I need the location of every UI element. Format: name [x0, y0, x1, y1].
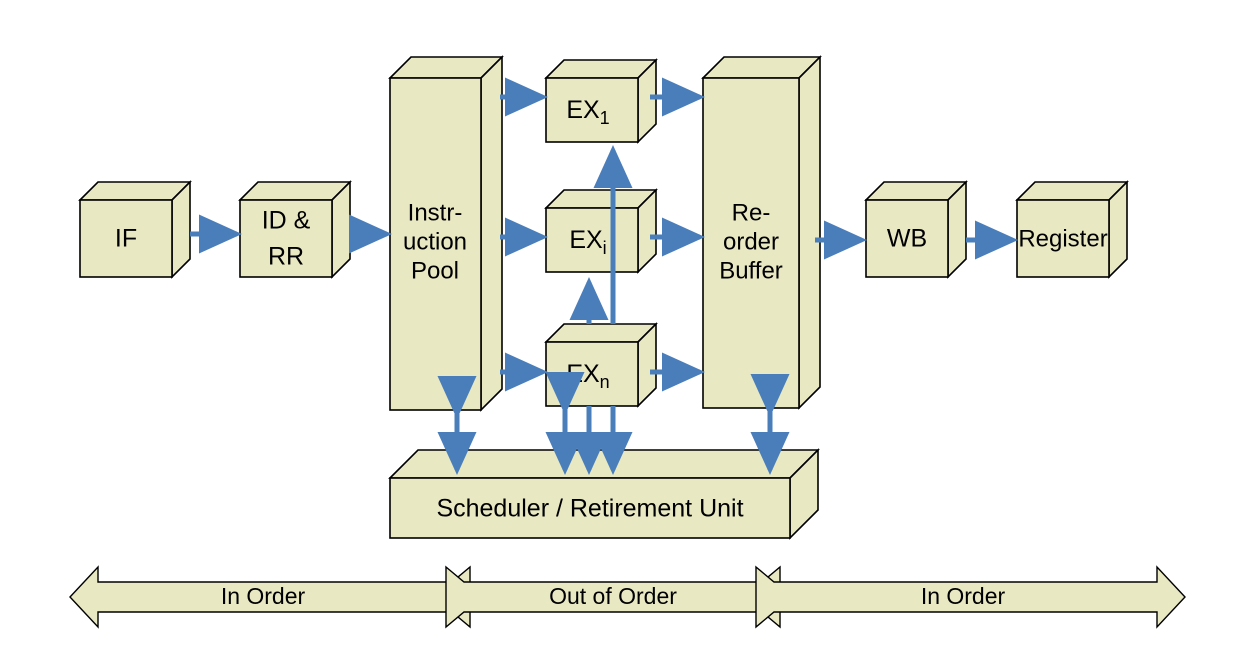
block-id-rr: ID & RR: [240, 182, 350, 277]
block-instruction-pool-label-line3: Pool: [411, 257, 459, 284]
block-exi-label: EXi: [569, 226, 606, 258]
block-ex1-top: [546, 60, 656, 78]
phase-label-in-order-right: In Order: [921, 583, 1006, 609]
block-scheduler-label: Scheduler / Retirement Unit: [436, 495, 743, 523]
block-instruction-pool-side: [481, 57, 502, 410]
pipeline-diagram: IF ID & RR Instr- uction Pool EX1 EXi: [0, 0, 1249, 661]
phase-label-in-order-left: In Order: [221, 583, 306, 609]
block-exi-top: [546, 190, 656, 208]
block-exn-top: [546, 324, 656, 342]
block-if-label: IF: [115, 225, 137, 253]
block-ex1: EX1: [546, 60, 656, 142]
block-if-top: [80, 182, 190, 200]
block-scheduler: Scheduler / Retirement Unit: [390, 450, 818, 538]
block-exi: EXi: [546, 190, 656, 272]
block-wb-label: WB: [887, 225, 927, 253]
block-reorder-buffer-side: [799, 57, 820, 408]
block-reorder-buffer-label-line1: Re-: [732, 199, 771, 226]
block-register-top: [1017, 182, 1127, 200]
block-id-rr-label-line1: ID &: [262, 207, 311, 235]
block-if: IF: [80, 182, 190, 277]
block-wb: WB: [866, 182, 966, 277]
phase-band: In Order Out of Order In Order: [70, 567, 1185, 627]
diagram-canvas: IF ID & RR Instr- uction Pool EX1 EXi: [0, 0, 1249, 661]
block-instruction-pool-label-line1: Instr-: [408, 199, 463, 226]
phase-label-out-of-order: Out of Order: [549, 583, 677, 609]
block-register-label: Register: [1018, 225, 1107, 252]
block-id-rr-label-line2: RR: [268, 243, 304, 271]
block-id-rr-side: [332, 182, 350, 277]
block-scheduler-top: [390, 450, 818, 478]
block-register-side: [1109, 182, 1127, 277]
block-reorder-buffer-label-line3: Buffer: [719, 257, 783, 284]
block-instruction-pool-label-line2: uction: [403, 228, 467, 255]
block-reorder-buffer: Re- order Buffer: [703, 57, 820, 408]
block-if-side: [172, 182, 190, 277]
block-wb-side: [948, 182, 966, 277]
block-exn: EXn: [546, 324, 656, 406]
block-register: Register: [1017, 182, 1127, 277]
block-instruction-pool: Instr- uction Pool: [390, 57, 502, 410]
block-reorder-buffer-label-line2: order: [723, 228, 779, 255]
block-id-rr-top: [240, 182, 350, 200]
